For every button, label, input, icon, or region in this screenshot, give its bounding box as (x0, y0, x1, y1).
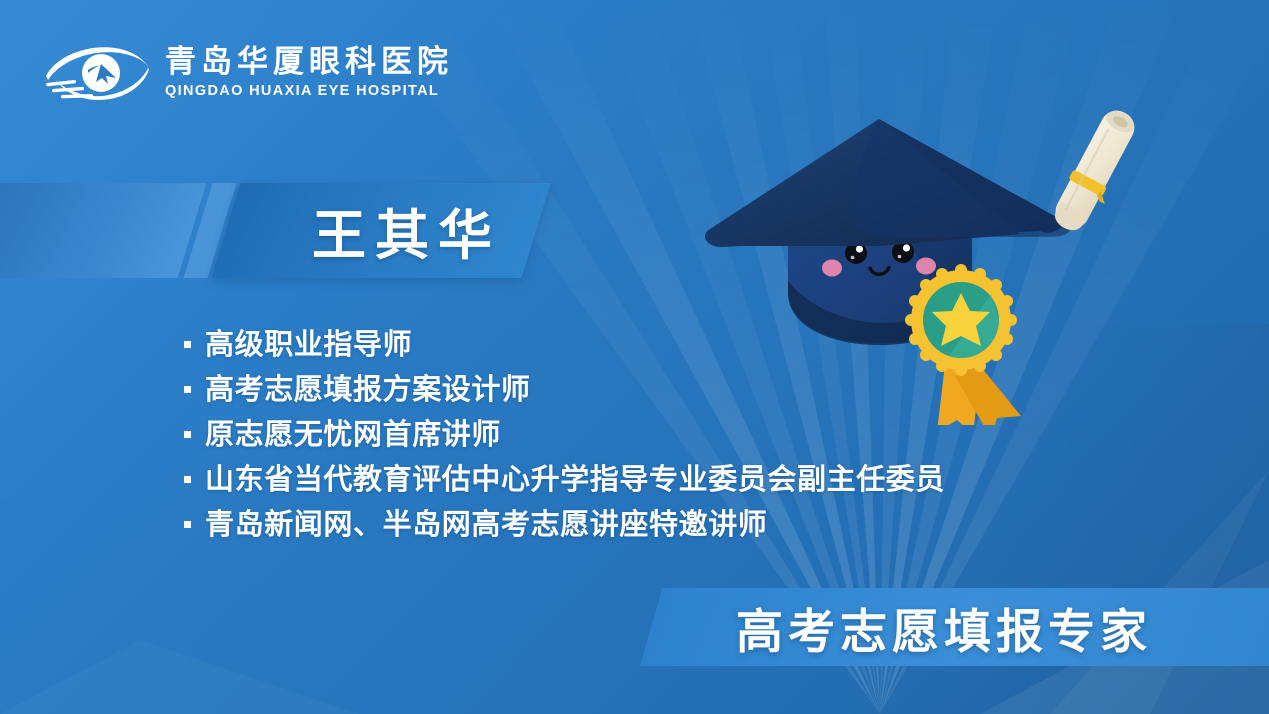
eye-logo-icon (44, 42, 152, 102)
headline-title: 高考志愿填报专家 (736, 588, 1152, 666)
logo-name-en: QINGDAO HUAXIA EYE HOSPITAL (165, 83, 453, 100)
bullet-square-icon (184, 341, 191, 348)
list-item: 原志愿无忧网首席讲师 (184, 412, 1144, 457)
logo-text-block: 青岛华厦眼科医院 QINGDAO HUAXIA EYE HOSPITAL (165, 46, 453, 99)
logo-name-cn: 青岛华厦眼科医院 (165, 46, 453, 79)
graduation-cap-icon (705, 119, 1070, 345)
bullet-square-icon (184, 431, 191, 438)
credentials-list: 高级职业指导师 高考志愿填报方案设计师 原志愿无忧网首席讲师 山东省当代教育评估… (184, 322, 1144, 547)
bullet-square-icon (184, 386, 191, 393)
hospital-logo: 青岛华厦眼科医院 QINGDAO HUAXIA EYE HOSPITAL (44, 42, 453, 102)
list-item: 山东省当代教育评估中心升学指导专业委员会副主任委员 (184, 457, 1144, 502)
credential-text: 山东省当代教育评估中心升学指导专业委员会副主任委员 (205, 465, 945, 494)
list-item: 高级职业指导师 (184, 322, 1144, 367)
speaker-name: 王其华 (262, 183, 542, 278)
credential-text: 高级职业指导师 (205, 330, 412, 359)
bullet-square-icon (184, 521, 191, 528)
list-item: 青岛新闻网、半岛网高考志愿讲座特邀讲师 (184, 502, 1144, 547)
list-item: 高考志愿填报方案设计师 (184, 367, 1144, 412)
cap-face (822, 241, 936, 277)
credential-text: 原志愿无忧网首席讲师 (205, 420, 501, 449)
ribbon-slab-left (0, 183, 207, 278)
credential-text: 青岛新闻网、半岛网高考志愿讲座特邀讲师 (205, 510, 767, 539)
presentation-slide: 青岛华厦眼科医院 QINGDAO HUAXIA EYE HOSPITAL 王其华… (0, 0, 1269, 714)
bullet-square-icon (184, 476, 191, 483)
credential-text: 高考志愿填报方案设计师 (205, 375, 531, 404)
diploma-scroll-icon (1047, 104, 1147, 239)
